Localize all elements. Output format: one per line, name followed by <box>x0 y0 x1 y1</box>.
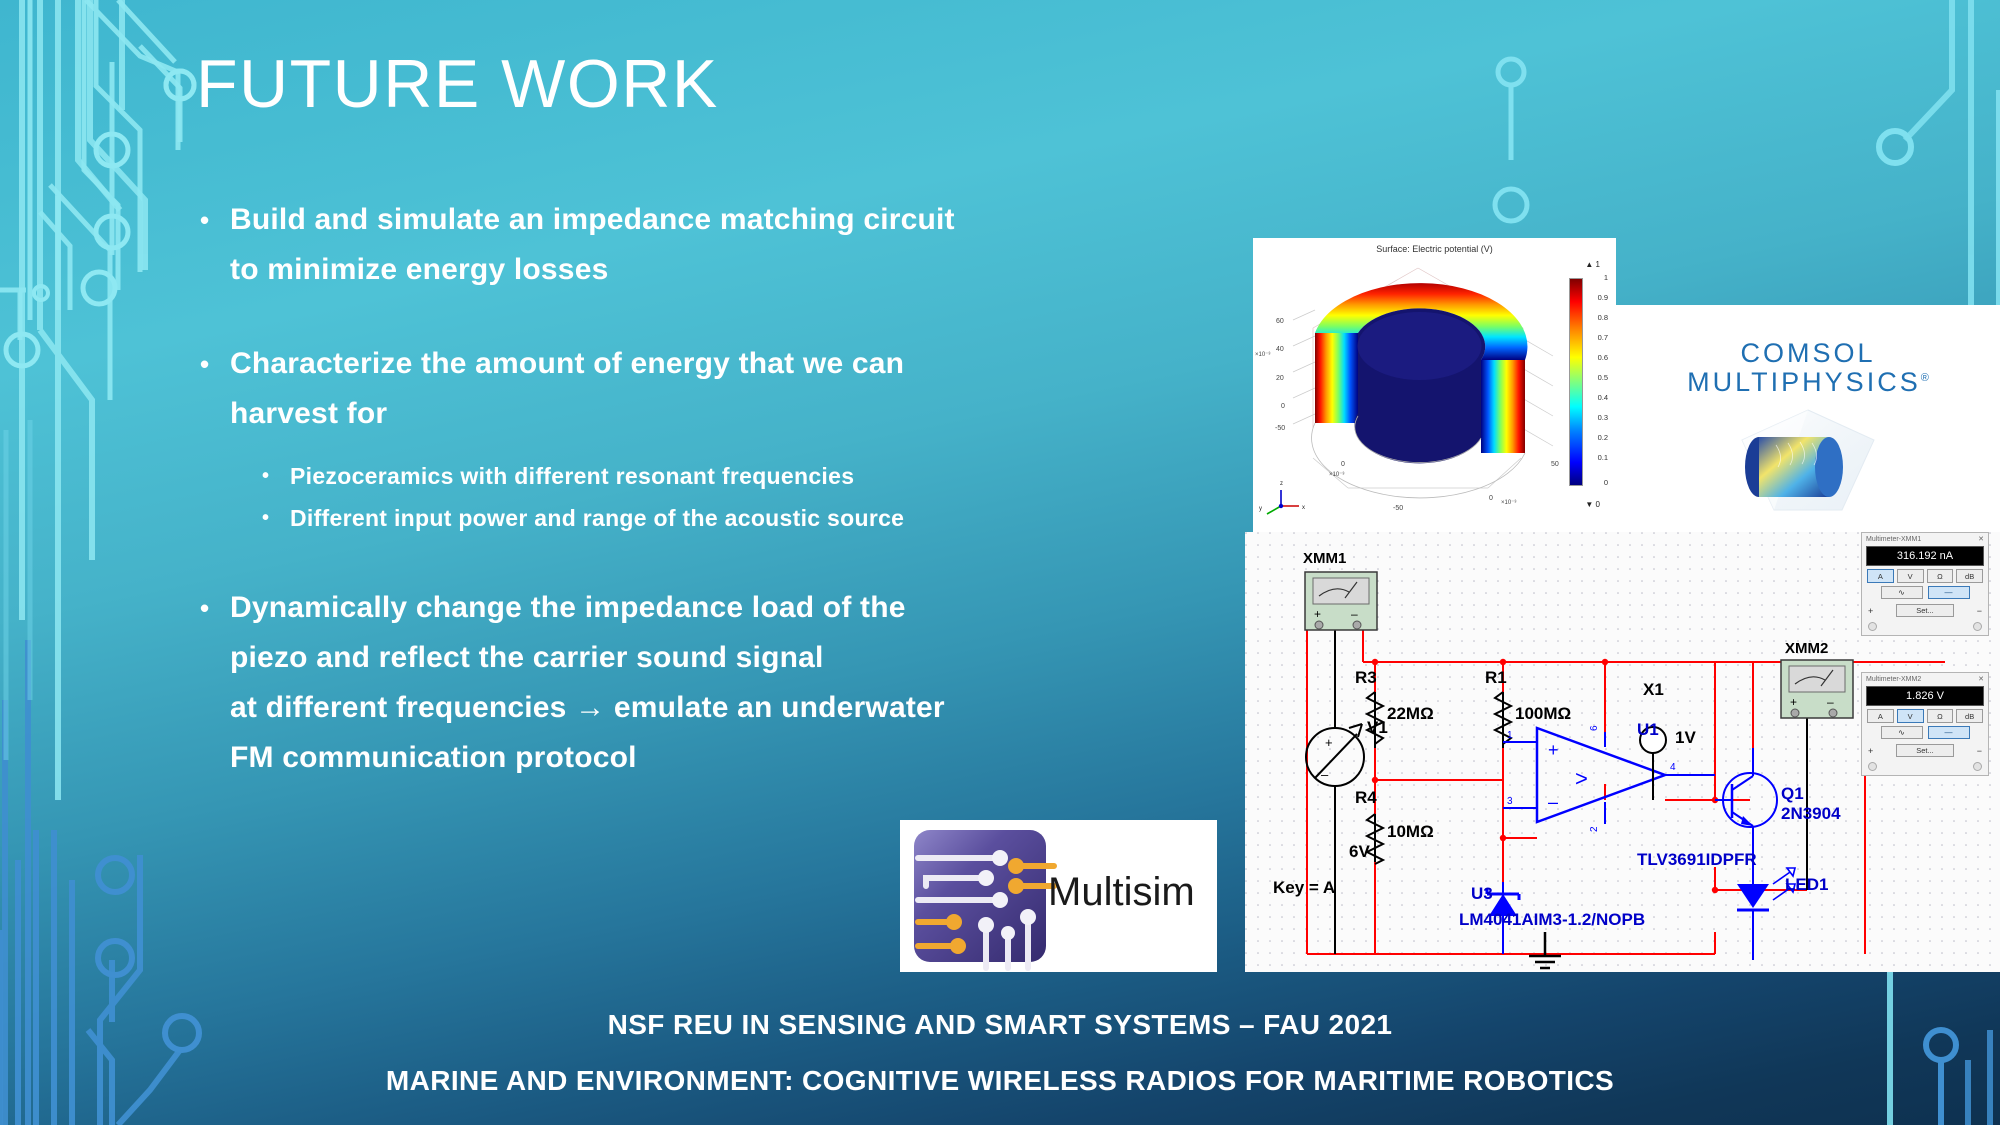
multimeter-coupling-buttons: ∿ — <box>1862 726 1988 743</box>
r1-value-label: 100MΩ <box>1515 704 1571 724</box>
mode-button-current[interactable]: A <box>1867 569 1894 583</box>
coupling-button-ac[interactable]: ∿ <box>1881 726 1923 739</box>
bullet-line: Characterize the amount of energy that w… <box>230 347 904 380</box>
svg-text:y: y <box>1259 506 1262 512</box>
comsol-cylinder-glyph <box>1616 305 2000 532</box>
multimeter-window-xmm2[interactable]: Multimeter-XMM2 ✕ 1.826 V A V Ω dB ∿ — +… <box>1861 672 1989 776</box>
bullet-text: Build and simulate an impedance matching… <box>230 195 1130 295</box>
footer-line-1: NSF REU IN SENSING AND SMART SYSTEMS – F… <box>0 1009 2000 1041</box>
multimeter-window-title: Multimeter-XMM2 <box>1866 676 1921 683</box>
multimeter-coupling-buttons: ∿ — <box>1862 586 1988 603</box>
multimeter-reading: 1.826 V <box>1866 686 1984 706</box>
svg-text:0: 0 <box>1341 461 1345 468</box>
r4-value-label: 10MΩ <box>1387 822 1434 842</box>
multisim-logo: Multisim <box>900 820 1217 972</box>
multimeter-reading: 316.192 nA <box>1866 546 1984 566</box>
terminal-minus-label: − <box>1977 746 1982 756</box>
svg-text:40: 40 <box>1276 346 1284 353</box>
axis-triad-icon <box>1267 490 1299 514</box>
u3-ref-label: U3 <box>1471 884 1493 904</box>
bullet-line: Dynamically change the impedance load of… <box>230 591 906 624</box>
colorbar-tick: 0.4 <box>1598 393 1608 402</box>
bullet-marker: • <box>200 195 230 245</box>
colorbar <box>1569 278 1583 486</box>
svg-text:×10⁻³: ×10⁻³ <box>1329 472 1344 478</box>
multimeter-mode-buttons: A V Ω dB <box>1862 569 1988 586</box>
colorbar-tick: 0.2 <box>1598 433 1608 442</box>
svg-text:3: 3 <box>1507 796 1513 807</box>
bullet-marker: • <box>200 583 230 633</box>
colorbar-tick: 0.6 <box>1598 353 1608 362</box>
svg-text:+: + <box>1314 607 1321 621</box>
terminal-minus[interactable] <box>1973 762 1982 771</box>
mode-button-voltage[interactable]: V <box>1897 709 1924 723</box>
bullet-list: • Build and simulate an impedance matchi… <box>200 195 1130 783</box>
colorbar-max-caption: ▲ 1 <box>1585 260 1600 269</box>
v1-key-label: Key = A <box>1273 878 1335 898</box>
u3-part-label: LM4041AIM3-1.2/NOPB <box>1459 910 1645 930</box>
settings-button[interactable]: Set... <box>1896 604 1954 617</box>
v1-value-label: 6V <box>1349 842 1370 862</box>
colorbar-tick: 0.7 <box>1598 333 1608 342</box>
spacer <box>200 539 1130 583</box>
slide-root: FUTURE WORK • Build and simulate an impe… <box>0 0 2000 1125</box>
q1-transistor-symbol <box>1715 748 1777 862</box>
bullet-marker: • <box>262 497 290 539</box>
terminal-minus-label: − <box>1977 606 1982 616</box>
bullet-text: Different input power and range of the a… <box>290 497 904 539</box>
svg-text:-50: -50 <box>1275 425 1285 432</box>
terminal-minus[interactable] <box>1973 622 1982 631</box>
svg-text:4: 4 <box>1670 762 1676 773</box>
multimeter-footer: + Set... − <box>1862 603 1988 622</box>
bullet-marker: • <box>262 455 290 497</box>
u1-part-label: TLV3691IDPFR <box>1637 850 1757 870</box>
multimeter-footer: + Set... − <box>1862 743 1988 762</box>
svg-text:>: > <box>1575 766 1588 791</box>
v1-ref-label: V1 <box>1367 718 1388 738</box>
bullet-text: Dynamically change the impedance load of… <box>230 583 1130 783</box>
bullet-line: Build and simulate an impedance matching… <box>230 203 955 236</box>
svg-text:20: 20 <box>1276 375 1284 382</box>
bullet-line: at different frequencies → emulate an un… <box>230 691 945 724</box>
xmm2-symbol: + – <box>1781 660 1853 718</box>
svg-text:+: + <box>1790 695 1797 709</box>
coupling-button-dc[interactable]: — <box>1928 586 1970 599</box>
svg-text:1: 1 <box>1507 730 1513 741</box>
svg-text:0: 0 <box>1489 495 1493 502</box>
bullet-marker: • <box>200 339 230 389</box>
svg-text:6: 6 <box>1589 725 1600 731</box>
coupling-button-ac[interactable]: ∿ <box>1881 586 1923 599</box>
bullet-item-3: • Dynamically change the impedance load … <box>200 583 1130 783</box>
terminal-plus[interactable] <box>1868 762 1877 771</box>
colorbar-tick: 0.3 <box>1598 413 1608 422</box>
x1-ref-label: X1 <box>1643 680 1664 700</box>
multimeter-window-xmm1[interactable]: Multimeter-XMM1 ✕ 316.192 nA A V Ω dB ∿ … <box>1861 532 1989 636</box>
xmm1-label: XMM1 <box>1303 550 1346 567</box>
slide-footer: NSF REU IN SENSING AND SMART SYSTEMS – F… <box>0 1009 2000 1097</box>
v1-symbol: + – <box>1306 724 1364 786</box>
colorbar-tick: 0.5 <box>1598 373 1608 382</box>
bullet-line: harvest for <box>230 397 387 430</box>
svg-text:60: 60 <box>1276 318 1284 325</box>
svg-text:2: 2 <box>1589 826 1600 832</box>
r1-ref-label: R1 <box>1485 668 1507 688</box>
colorbar-tick: 0 <box>1604 478 1608 487</box>
mode-button-voltage[interactable]: V <box>1897 569 1924 583</box>
bullet-line: FM communication protocol <box>230 741 637 774</box>
svg-text:–: – <box>1351 607 1358 621</box>
svg-text:×10⁻³: ×10⁻³ <box>1501 500 1516 506</box>
svg-text:x: x <box>1302 505 1305 511</box>
bullet-item-2a: • Piezoceramics with different resonant … <box>262 455 1130 497</box>
colorbar-tick: 0.1 <box>1598 453 1608 462</box>
xmm2-label: XMM2 <box>1785 640 1828 657</box>
multimeter-mode-buttons: A V Ω dB <box>1862 709 1988 726</box>
terminal-plus-label: + <box>1868 606 1873 616</box>
multimeter-titlebar: Multimeter-XMM2 ✕ <box>1862 673 1988 685</box>
multimeter-window-title: Multimeter-XMM1 <box>1866 536 1921 543</box>
svg-text:-50: -50 <box>1393 505 1403 512</box>
coupling-button-dc[interactable]: — <box>1928 726 1970 739</box>
mode-button-decibel[interactable]: dB <box>1956 709 1983 723</box>
bullet-item-2b: • Different input power and range of the… <box>262 497 1130 539</box>
colorbar-tick: 0.9 <box>1598 293 1608 302</box>
svg-text:z: z <box>1280 481 1283 487</box>
spacer <box>200 295 1130 339</box>
multisim-wordmark: Multisim <box>1048 870 1195 915</box>
ground-symbol <box>1529 932 1561 968</box>
close-icon[interactable]: ✕ <box>1978 675 1984 683</box>
r3-ref-label: R3 <box>1355 668 1377 688</box>
svg-text:50: 50 <box>1551 461 1559 468</box>
terminal-plus-label: + <box>1868 746 1873 756</box>
spacer <box>200 439 1130 455</box>
xmm1-symbol: + – <box>1305 572 1377 630</box>
close-icon[interactable]: ✕ <box>1978 535 1984 543</box>
comsol-electric-potential-plot: Surface: Electric potential (V) <box>1253 238 1616 532</box>
mode-button-current[interactable]: A <box>1867 709 1894 723</box>
svg-text:–: – <box>1548 792 1558 812</box>
q1-ref-label: Q1 <box>1781 784 1804 804</box>
mode-button-resistance[interactable]: Ω <box>1927 569 1954 583</box>
colorbar-tick: 0.8 <box>1598 313 1608 322</box>
bullet-item-1: • Build and simulate an impedance matchi… <box>200 195 1130 295</box>
colorbar-tick: 1 <box>1604 273 1608 282</box>
svg-text:+: + <box>1548 740 1559 760</box>
comsol-3d-surface-figure: z x y 60 40 20 0 -50 ×10⁻³ 0 ×10⁻³ -50 0… <box>1253 238 1616 532</box>
svg-text:–: – <box>1827 695 1834 709</box>
multisim-circuit-schematic: + – + – + <box>1245 532 2000 972</box>
bullet-line: to minimize energy losses <box>230 253 608 286</box>
bullet-text: Characterize the amount of energy that w… <box>230 339 1130 439</box>
bullet-line: piezo and reflect the carrier sound sign… <box>230 641 824 674</box>
q1-part-label: 2N3904 <box>1781 804 1841 824</box>
comsol-multiphysics-logo: COMSOL MULTIPHYSICS® <box>1616 305 2000 532</box>
mode-button-decibel[interactable]: dB <box>1956 569 1983 583</box>
x1-value-label: 1V <box>1675 728 1696 748</box>
r3-value-label: 22MΩ <box>1387 704 1434 724</box>
page-title: FUTURE WORK <box>196 45 719 123</box>
settings-button[interactable]: Set... <box>1896 744 1954 757</box>
bullet-text: Piezoceramics with different resonant fr… <box>290 455 854 497</box>
terminal-plus[interactable] <box>1868 622 1877 631</box>
svg-text:0: 0 <box>1281 403 1285 410</box>
r4-ref-label: R4 <box>1355 788 1377 808</box>
multimeter-titlebar: Multimeter-XMM1 ✕ <box>1862 533 1988 545</box>
bullet-item-2: • Characterize the amount of energy that… <box>200 339 1130 439</box>
mode-button-resistance[interactable]: Ω <box>1927 709 1954 723</box>
u1-ref-label: U1 <box>1637 720 1659 740</box>
footer-line-2: MARINE AND ENVIRONMENT: COGNITIVE WIRELE… <box>0 1065 2000 1097</box>
colorbar-min-caption: ▼ 0 <box>1585 500 1600 509</box>
led1-ref-label: LED1 <box>1785 875 1828 895</box>
svg-text:–: – <box>1321 767 1329 782</box>
svg-text:+: + <box>1325 735 1333 750</box>
svg-text:×10⁻³: ×10⁻³ <box>1255 352 1270 358</box>
